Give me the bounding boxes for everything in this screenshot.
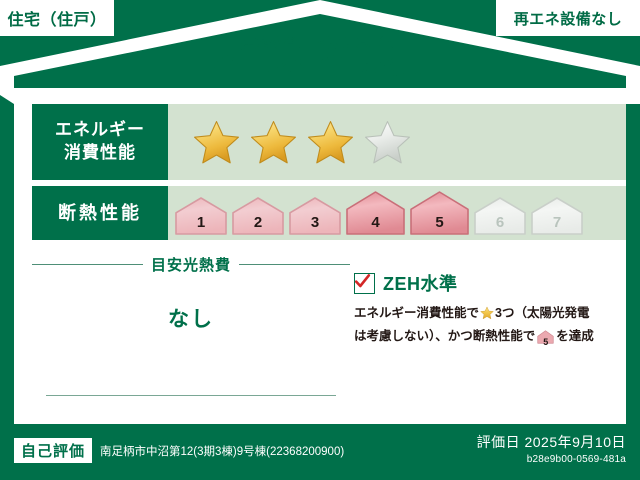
insulation-level-number: 7 [530, 214, 584, 231]
insulation-level-1: 1 [174, 196, 228, 236]
insulation-level-number: 2 [231, 214, 285, 231]
insulation-level-number: 4 [345, 214, 406, 231]
energy-performance-label: 住宅（住戸） 再エネ設備なし 建築物省エネ法に基づく 省エネ性能ラベル エネルギ… [0, 0, 640, 480]
page-title: 建築物省エネ法に基づく 省エネ性能ラベル [0, 36, 640, 85]
insulation-level-number: 1 [174, 214, 228, 231]
insulation-performance-row: 断熱性能 1234567 [14, 186, 626, 240]
utility-cost-bottom-rule [46, 395, 336, 396]
footer-right-group: 評価日 2025年9月10日 b28e9b00-0569-481a [477, 432, 626, 465]
energy-performance-label-key: エネルギー 消費性能 [32, 104, 168, 180]
utility-cost-value: なし [32, 303, 350, 333]
insulation-level-5: 5 [409, 190, 470, 236]
insulation-performance-band: 1234567 [168, 186, 626, 240]
insulation-level-4: 4 [345, 190, 406, 236]
star-icon [306, 119, 355, 166]
property-address: 南足柄市中沼第12(3期3棟)9号棟(22368200900) [100, 443, 344, 459]
label-footer: 自己評価 南足柄市中沼第12(3期3棟)9号棟(22368200900) 評価日… [0, 424, 640, 480]
insulation-level-number: 3 [288, 214, 342, 231]
insulation-level-number: 5 [409, 214, 470, 231]
house-icon: 5 [537, 330, 554, 350]
renewable-equipment-tag: 再エネ設備なし [496, 0, 640, 36]
zeh-desc-house-level: 5 [537, 335, 554, 350]
label-body-panel: エネルギー 消費性能 断熱性能 1234567 目安光熱費 なし [14, 88, 626, 424]
footer-left-group: 自己評価 南足柄市中沼第12(3期3棟)9号棟(22368200900) [14, 438, 344, 463]
energy-performance-row: エネルギー 消費性能 [14, 104, 626, 180]
star-icon [192, 119, 241, 166]
zeh-header: ZEH水準 [354, 270, 616, 296]
energy-performance-band [168, 104, 626, 180]
energy-key-line1: エネルギー [55, 119, 145, 142]
lower-section: 目安光熱費 なし ZEH水準 エネルギー消費性能で [14, 254, 626, 420]
housing-type-tag: 住宅（住戸） [0, 0, 114, 36]
star-icon [480, 306, 494, 326]
insulation-level-number: 6 [473, 214, 527, 231]
estimated-utility-cost-column: 目安光熱費 なし [32, 254, 350, 420]
insulation-level-3: 3 [288, 196, 342, 236]
insulation-level-scale: 1234567 [174, 190, 584, 236]
evaluation-id: b28e9b00-0569-481a [477, 454, 626, 465]
insulation-level-6: 6 [473, 196, 527, 236]
zeh-title: ZEH水準 [383, 270, 458, 296]
star-icon [249, 119, 298, 166]
star-icon [363, 119, 412, 166]
zeh-desc-star-count: 3つ（太陽光発電 [495, 306, 589, 320]
self-evaluation-badge: 自己評価 [14, 438, 92, 463]
utility-cost-header: 目安光熱費 [32, 254, 350, 275]
zeh-desc-part3: を達成 [556, 329, 594, 343]
zeh-desc-part1: エネルギー消費性能で [354, 306, 479, 320]
insulation-performance-label-key: 断熱性能 [32, 186, 168, 240]
zeh-description: エネルギー消費性能で 3つ（太陽光発電 は考慮しない）、かつ断熱性能で [354, 303, 616, 351]
energy-key-line2: 消費性能 [64, 142, 136, 165]
check-icon [353, 272, 372, 291]
evaluation-date: 評価日 2025年9月10日 [477, 432, 626, 452]
zeh-column: ZEH水準 エネルギー消費性能で 3 [354, 270, 616, 351]
zeh-desc-part2: は考慮しない）、かつ断熱性能で [354, 329, 535, 343]
insulation-level-7: 7 [530, 196, 584, 236]
insulation-level-2: 2 [231, 196, 285, 236]
star-rating [192, 119, 412, 166]
zeh-checkbox[interactable] [354, 273, 375, 294]
